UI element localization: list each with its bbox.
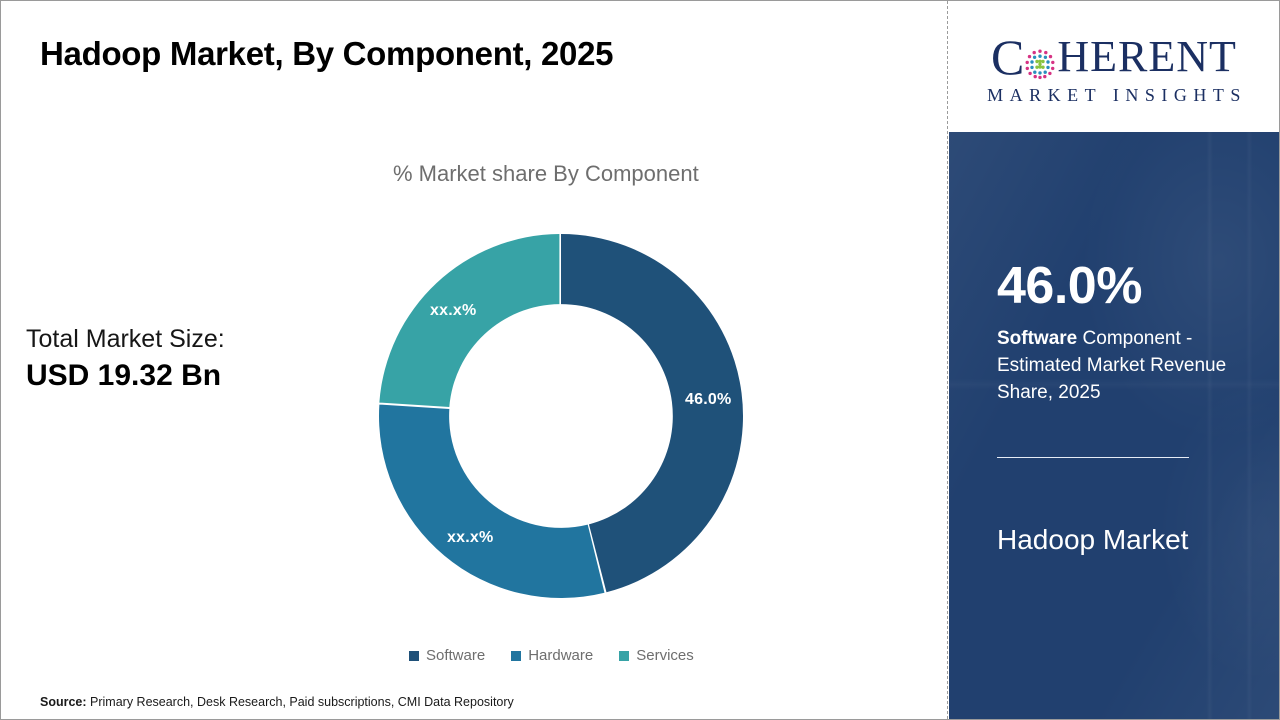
- highlight-panel: 46.0% Software Component - Estimated Mar…: [949, 132, 1279, 719]
- source-prefix: Source:: [40, 695, 87, 709]
- logo-wordmark-rest: HERENT: [1057, 35, 1237, 79]
- logo-wordmark: C: [991, 32, 1237, 82]
- globe-icon: [1024, 44, 1056, 76]
- legend-item-hardware[interactable]: Hardware: [511, 647, 593, 664]
- legend-swatch-services: [619, 651, 629, 661]
- donut-label-services: xx.x%: [430, 302, 476, 320]
- logo-tagline: MARKET INSIGHTS: [981, 85, 1247, 106]
- vertical-dashed-divider: [947, 1, 948, 719]
- panel-market-name: Hadoop Market: [997, 520, 1227, 560]
- panel-texture-overlay: [949, 132, 1279, 719]
- legend-label-hardware: Hardware: [528, 647, 593, 664]
- source-note: Source: Primary Research, Desk Research,…: [40, 695, 514, 709]
- source-text: Primary Research, Desk Research, Paid su…: [87, 695, 514, 709]
- legend-item-software[interactable]: Software: [409, 647, 485, 664]
- logo-inner: C: [981, 32, 1247, 106]
- highlight-percent: 46.0%: [997, 260, 1142, 312]
- highlight-description: Software Component - Estimated Market Re…: [997, 326, 1235, 407]
- legend-swatch-software: [409, 651, 419, 661]
- total-market-size-block: Total Market Size: USD 19.32 Bn: [26, 324, 326, 394]
- brand-logo[interactable]: C: [949, 1, 1279, 132]
- donut-chart-svg: [378, 233, 744, 599]
- left-content-pane: Hadoop Market, By Component, 2025 % Mark…: [1, 1, 948, 719]
- panel-divider-rule: [997, 457, 1189, 458]
- chart-legend: Software Hardware Services: [409, 647, 694, 664]
- donut-label-software: 46.0%: [685, 391, 731, 409]
- legend-label-software: Software: [426, 647, 485, 664]
- market-size-label: Total Market Size:: [26, 324, 326, 355]
- infographic-canvas: Hadoop Market, By Component, 2025 % Mark…: [0, 0, 1280, 720]
- donut-slice-hardware: [379, 405, 604, 598]
- market-size-value: USD 19.32 Bn: [26, 357, 326, 394]
- donut-label-hardware: xx.x%: [447, 529, 493, 547]
- donut-chart: [378, 233, 744, 599]
- logo-letter-c: C: [991, 32, 1025, 82]
- legend-swatch-hardware: [511, 651, 521, 661]
- highlight-description-bold: Software: [997, 328, 1077, 349]
- chart-subtitle: % Market share By Component: [393, 161, 813, 187]
- globe-icon-svg: [1024, 48, 1056, 80]
- legend-label-services: Services: [636, 647, 694, 664]
- legend-item-services[interactable]: Services: [619, 647, 694, 664]
- donut-slice-services: [379, 234, 559, 407]
- page-title: Hadoop Market, By Component, 2025: [40, 35, 613, 73]
